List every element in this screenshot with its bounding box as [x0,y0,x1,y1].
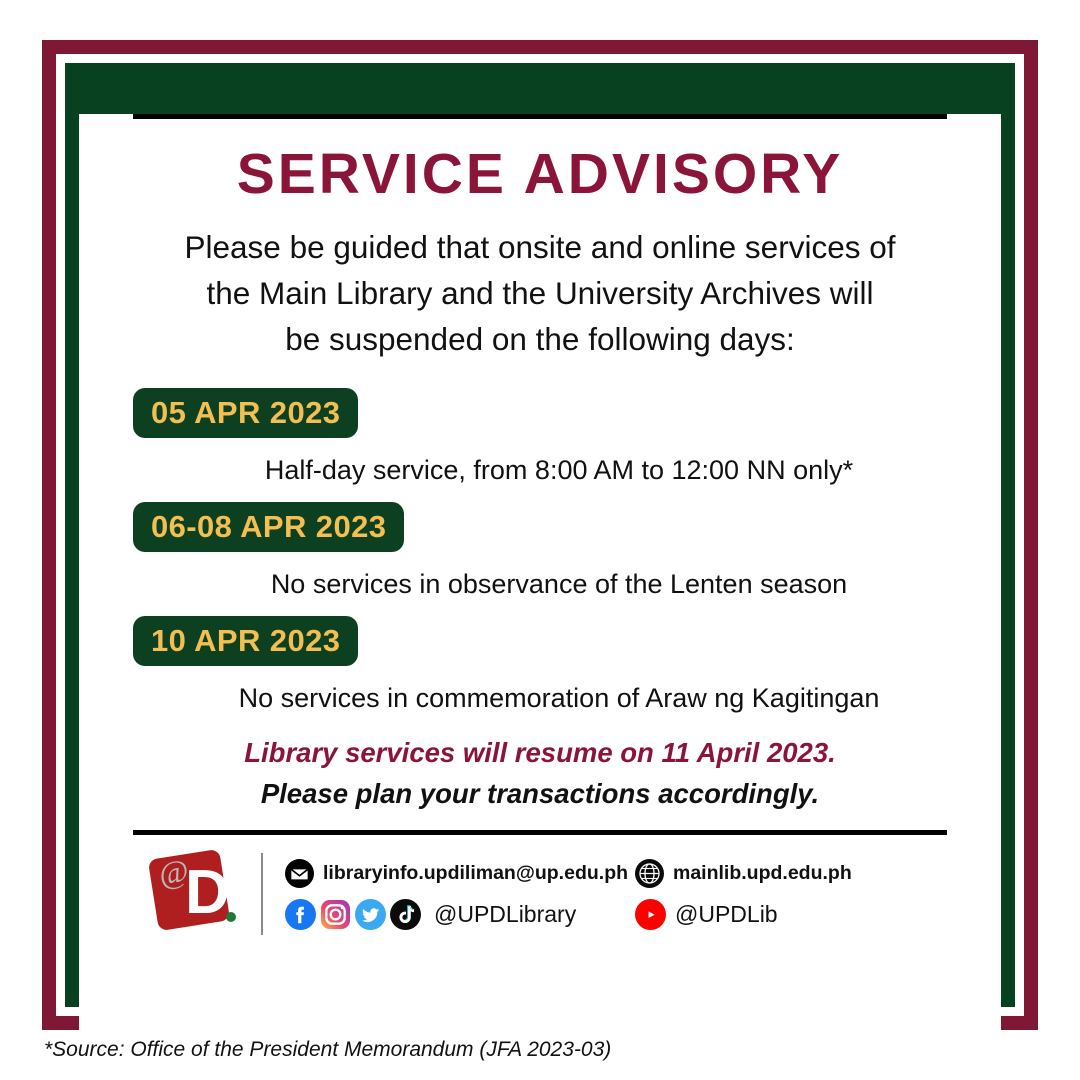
bottom-divider-rule [133,830,947,835]
schedule-description: No services in observance of the Lenten … [133,569,947,600]
contact-column-left: libraryinfo.updiliman@up.edu.ph [285,853,635,935]
page-title: SERVICE ADVISORY [133,145,947,205]
schedule-item: 05 APR 2023 Half-day service, from 8:00 … [133,388,947,486]
resume-date-line: Library services will resume on 11 April… [133,734,947,771]
top-divider-rule [133,114,947,119]
email-address: libraryinfo.updiliman@up.edu.ph [323,862,628,885]
tiktok-icon[interactable] [390,899,421,930]
contact-columns: libraryinfo.updiliman@up.edu.ph [285,853,947,935]
schedule-item: 10 APR 2023 No services in commemoration… [133,616,947,714]
youtube-contact-row[interactable]: @UPDLib [635,894,895,935]
email-contact-row[interactable]: libraryinfo.updiliman@up.edu.ph [285,853,635,894]
social-icons [285,899,425,930]
schedule-description: Half-day service, from 8:00 AM to 12:00 … [133,455,947,486]
logo-green-dot [226,912,236,922]
date-badge: 06-08 APR 2023 [133,502,404,552]
youtube-icon[interactable] [635,899,666,930]
schedule-item: 06-08 APR 2023 No services in observance… [133,502,947,600]
intro-line-1: Please be guided that onsite and online … [139,225,941,271]
website-contact-row[interactable]: mainlib.upd.edu.ph [635,853,895,894]
resume-notice: Library services will resume on 11 April… [133,734,947,812]
upd-main-library-logo: @ D [147,848,243,940]
poster-content: SERVICE ADVISORY Please be guided that o… [79,114,1001,1030]
date-badge: 05 APR 2023 [133,388,358,438]
twitter-icon[interactable] [355,899,386,930]
source-note: *Source: Office of the President Memoran… [44,1038,611,1062]
instagram-icon[interactable] [320,899,351,930]
website-url: mainlib.upd.edu.ph [673,862,852,885]
poster-white-gap: SERVICE ADVISORY Please be guided that o… [56,54,1024,1016]
resume-plan-line: Please plan your transactions accordingl… [133,775,947,812]
schedule-description: No services in commemoration of Araw ng … [133,683,947,714]
youtube-handle: @UPDLib [675,901,778,928]
footer-contacts: @ D [133,848,947,940]
intro-line-2: the Main Library and the University Arch… [139,271,941,317]
intro-line-3: be suspended on the following days: [139,317,941,363]
date-badge: 10 APR 2023 [133,616,358,666]
intro-paragraph: Please be guided that onsite and online … [139,225,941,363]
advisory-poster: SERVICE ADVISORY Please be guided that o… [42,40,1038,1030]
email-icon [285,859,314,888]
footer-section: @ D [133,830,947,940]
social-handles-row[interactable]: @UPDLibrary [285,894,635,935]
social-handle: @UPDLibrary [434,901,576,928]
facebook-icon[interactable] [285,899,316,930]
contact-column-right: mainlib.upd.edu.ph [635,853,895,935]
footer-vertical-divider [261,853,263,935]
poster-green-frame: SERVICE ADVISORY Please be guided that o… [65,63,1015,1007]
globe-icon [635,859,664,888]
logo-letter-d: D [185,862,230,924]
schedule-list: 05 APR 2023 Half-day service, from 8:00 … [133,388,947,714]
